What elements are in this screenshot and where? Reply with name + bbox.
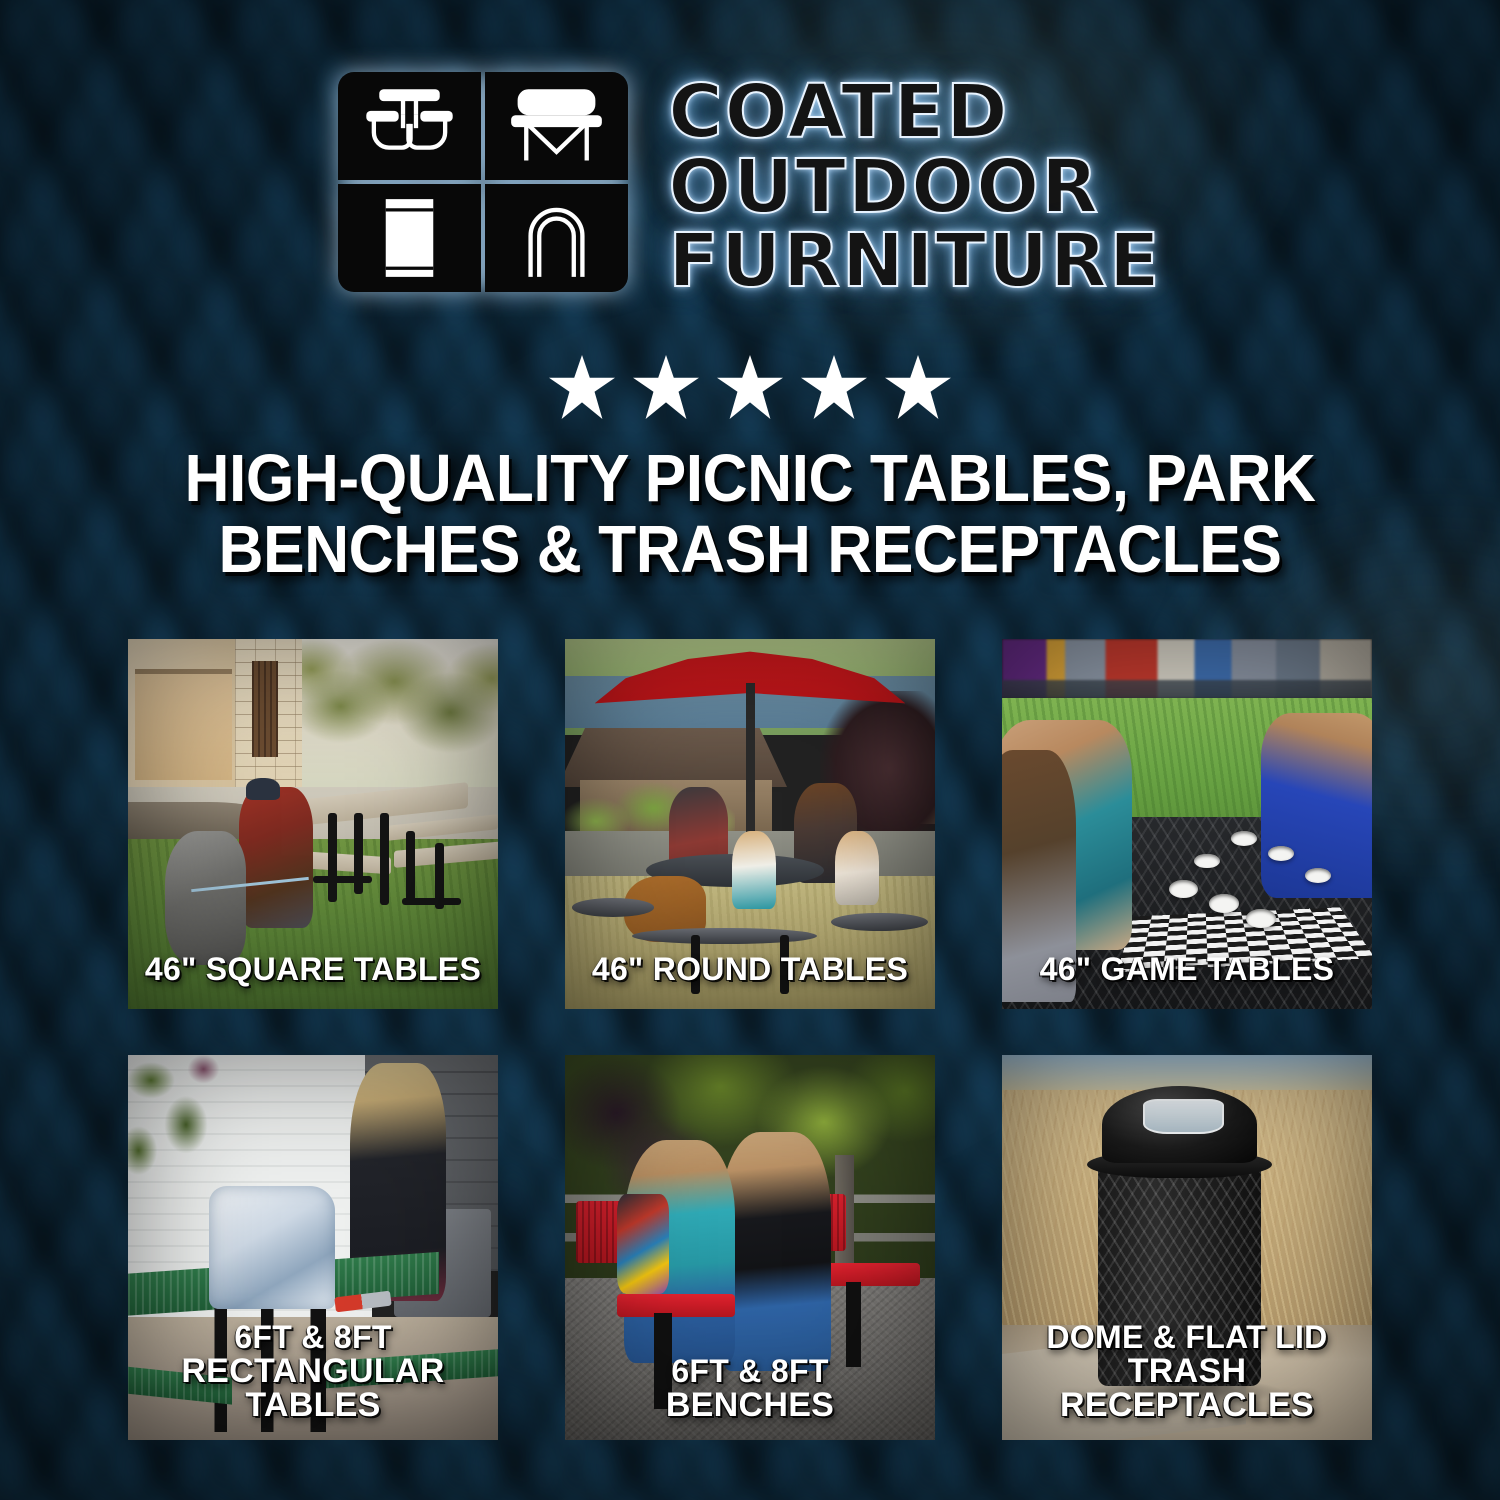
page-headline: HIGH-QUALITY PICNIC TABLES, PARK BENCHES… (108, 443, 1391, 585)
trash-receptacle-icon (338, 184, 481, 292)
product-caption: 46" SQUARE TABLES (134, 953, 492, 985)
product-card-trash-receptacles[interactable]: DOME & FLAT LID TRASH RECEPTACLES (1002, 1055, 1372, 1440)
product-caption-line-2: RECTANGULAR TABLES (134, 1354, 492, 1422)
product-caption: 6FT & 8FT BENCHES (571, 1355, 929, 1422)
headline-line-1: HIGH-QUALITY PICNIC TABLES, PARK (185, 441, 1316, 516)
product-caption: 46" GAME TABLES (1008, 953, 1366, 985)
product-caption: 6FT & 8FT RECTANGULAR TABLES (134, 1321, 492, 1422)
star-icon (549, 355, 615, 419)
product-grid: 46" SQUARE TABLES (128, 639, 1372, 1440)
bench-table-side-icon (485, 72, 628, 180)
brand-name-line-1: COATED (668, 76, 1161, 149)
promo-page: COATED OUTDOOR FURNITURE HIGH-QUALITY PI… (0, 0, 1500, 1500)
product-caption: DOME & FLAT LID TRASH RECEPTACLES (1008, 1321, 1366, 1422)
star-icon (717, 355, 783, 419)
star-icon (633, 355, 699, 419)
product-caption: 46" ROUND TABLES (571, 953, 929, 985)
product-card-round-tables[interactable]: 46" ROUND TABLES (565, 639, 935, 1009)
star-icon (885, 355, 951, 419)
product-card-rectangular-tables[interactable]: 6FT & 8FT RECTANGULAR TABLES (128, 1055, 498, 1440)
product-caption-line-1: DOME & FLAT LID (1046, 1319, 1327, 1355)
product-caption-line-2: BENCHES (571, 1388, 929, 1422)
product-card-game-tables[interactable]: 46" GAME TABLES (1002, 639, 1372, 1009)
headline-line-2: BENCHES & TRASH RECEPTACLES (108, 514, 1391, 585)
brand-name-line-3: FURNITURE (668, 225, 1161, 298)
bike-rack-arch-icon (485, 184, 628, 292)
four-quadrant-furniture-logo (338, 72, 628, 292)
star-icon (801, 355, 867, 419)
brand-name-line-2: OUTDOOR (668, 151, 1161, 224)
product-caption-line-1: 6FT & 8FT (234, 1319, 391, 1355)
product-caption-line-1: 6FT & 8FT (671, 1353, 828, 1389)
product-caption-line-2: TRASH RECEPTACLES (1008, 1354, 1366, 1422)
brand-logo: COATED OUTDOOR FURNITURE (0, 72, 1500, 298)
star-rating (0, 355, 1500, 419)
brand-name: COATED OUTDOOR FURNITURE (668, 72, 1161, 298)
product-card-square-tables[interactable]: 46" SQUARE TABLES (128, 639, 498, 1009)
product-card-benches[interactable]: 6FT & 8FT BENCHES (565, 1055, 935, 1440)
picnic-table-icon (338, 72, 481, 180)
